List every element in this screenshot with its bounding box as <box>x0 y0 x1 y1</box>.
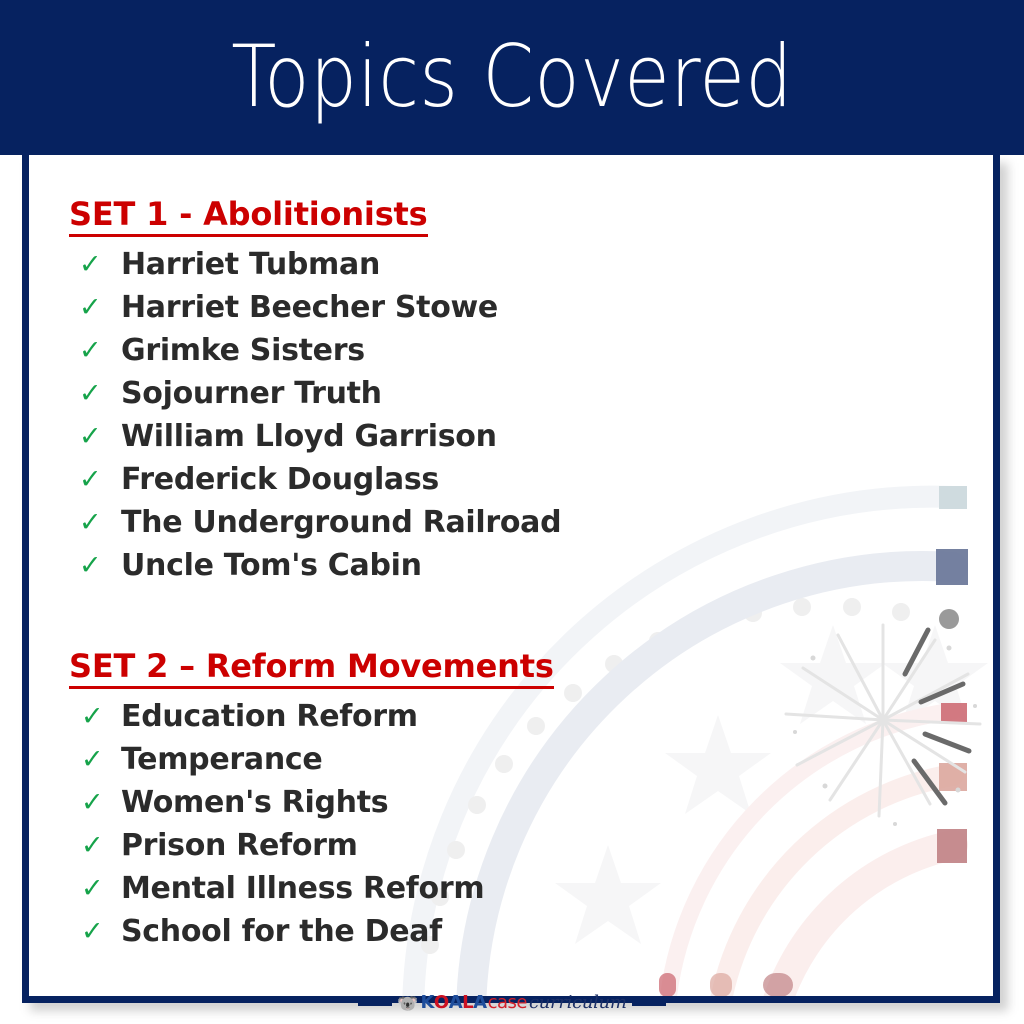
check-icon: ✓ <box>69 832 121 859</box>
set-2-topic-list: ✓ Education Reform ✓ Temperance ✓ Women'… <box>69 695 769 953</box>
list-item[interactable]: ✓ Sojourner Truth <box>69 372 769 415</box>
check-icon: ✓ <box>69 552 121 579</box>
topic-label: Uncle Tom's Cabin <box>121 549 422 583</box>
check-icon: ✓ <box>69 380 121 407</box>
topic-label: Harriet Tubman <box>121 248 380 282</box>
topics-content: SET 1 - Abolitionists ✓ Harriet Tubman ✓… <box>69 195 769 953</box>
list-item[interactable]: ✓ Harriet Tubman <box>69 243 769 286</box>
brand-letter-k: K <box>420 994 433 1012</box>
list-item[interactable]: ✓ Mental Illness Reform <box>69 867 769 910</box>
topic-label: Frederick Douglass <box>121 463 439 497</box>
set-2-heading: SET 2 – Reform Movements <box>69 647 554 689</box>
header-band: Topics Covered <box>0 0 1024 155</box>
topic-label: Prison Reform <box>121 829 358 863</box>
footer-brand-logo: 🐨 K O A L A case curriculum <box>0 988 1024 1018</box>
brand-letter-a-second: A <box>473 994 486 1012</box>
topic-label: School for the Deaf <box>121 915 442 949</box>
list-item[interactable]: ✓ Uncle Tom's Cabin <box>69 544 769 587</box>
logo-rule-right <box>632 1001 666 1006</box>
list-item[interactable]: ✓ Prison Reform <box>69 824 769 867</box>
check-icon: ✓ <box>69 703 121 730</box>
check-icon: ✓ <box>69 251 121 278</box>
brand-letter-a-first: A <box>449 994 462 1012</box>
topic-label: Women's Rights <box>121 786 388 820</box>
check-icon: ✓ <box>69 746 121 773</box>
list-item[interactable]: ✓ Harriet Beecher Stowe <box>69 286 769 329</box>
page-title: Topics Covered <box>72 22 953 132</box>
slide-canvas: Topics Covered <box>0 0 1024 1024</box>
brand-word-curriculum: curriculum <box>529 994 627 1012</box>
brand-letter-l: L <box>462 994 473 1012</box>
check-icon: ✓ <box>69 509 121 536</box>
check-icon: ✓ <box>69 875 121 902</box>
brand-word-case: case <box>488 994 527 1012</box>
logo-rule-left <box>358 1001 392 1006</box>
check-icon: ✓ <box>69 294 121 321</box>
set-1-heading: SET 1 - Abolitionists <box>69 195 428 237</box>
topic-label: Sojourner Truth <box>121 377 382 411</box>
topic-label: The Underground Railroad <box>121 506 561 540</box>
list-item[interactable]: ✓ William Lloyd Garrison <box>69 415 769 458</box>
set-section-1: SET 1 - Abolitionists ✓ Harriet Tubman ✓… <box>69 195 769 587</box>
list-item[interactable]: ✓ Frederick Douglass <box>69 458 769 501</box>
check-icon: ✓ <box>69 918 121 945</box>
list-item[interactable]: ✓ School for the Deaf <box>69 910 769 953</box>
check-icon: ✓ <box>69 423 121 450</box>
topic-label: Grimke Sisters <box>121 334 365 368</box>
check-icon: ✓ <box>69 789 121 816</box>
topic-label: Harriet Beecher Stowe <box>121 291 498 325</box>
check-icon: ✓ <box>69 466 121 493</box>
topic-label: Mental Illness Reform <box>121 872 484 906</box>
list-item[interactable]: ✓ Education Reform <box>69 695 769 738</box>
list-item[interactable]: ✓ Temperance <box>69 738 769 781</box>
koala-icon: 🐨 <box>397 995 418 1012</box>
list-item[interactable]: ✓ The Underground Railroad <box>69 501 769 544</box>
topic-label: Temperance <box>121 743 322 777</box>
topic-label: Education Reform <box>121 700 418 734</box>
list-item[interactable]: ✓ Women's Rights <box>69 781 769 824</box>
list-item[interactable]: ✓ Grimke Sisters <box>69 329 769 372</box>
topic-label: William Lloyd Garrison <box>121 420 497 454</box>
set-1-topic-list: ✓ Harriet Tubman ✓ Harriet Beecher Stowe… <box>69 243 769 587</box>
set-section-2: SET 2 – Reform Movements ✓ Education Ref… <box>69 647 769 953</box>
check-icon: ✓ <box>69 337 121 364</box>
content-area: SET 1 - Abolitionists ✓ Harriet Tubman ✓… <box>29 155 993 996</box>
brand-letter-o: O <box>434 994 449 1012</box>
